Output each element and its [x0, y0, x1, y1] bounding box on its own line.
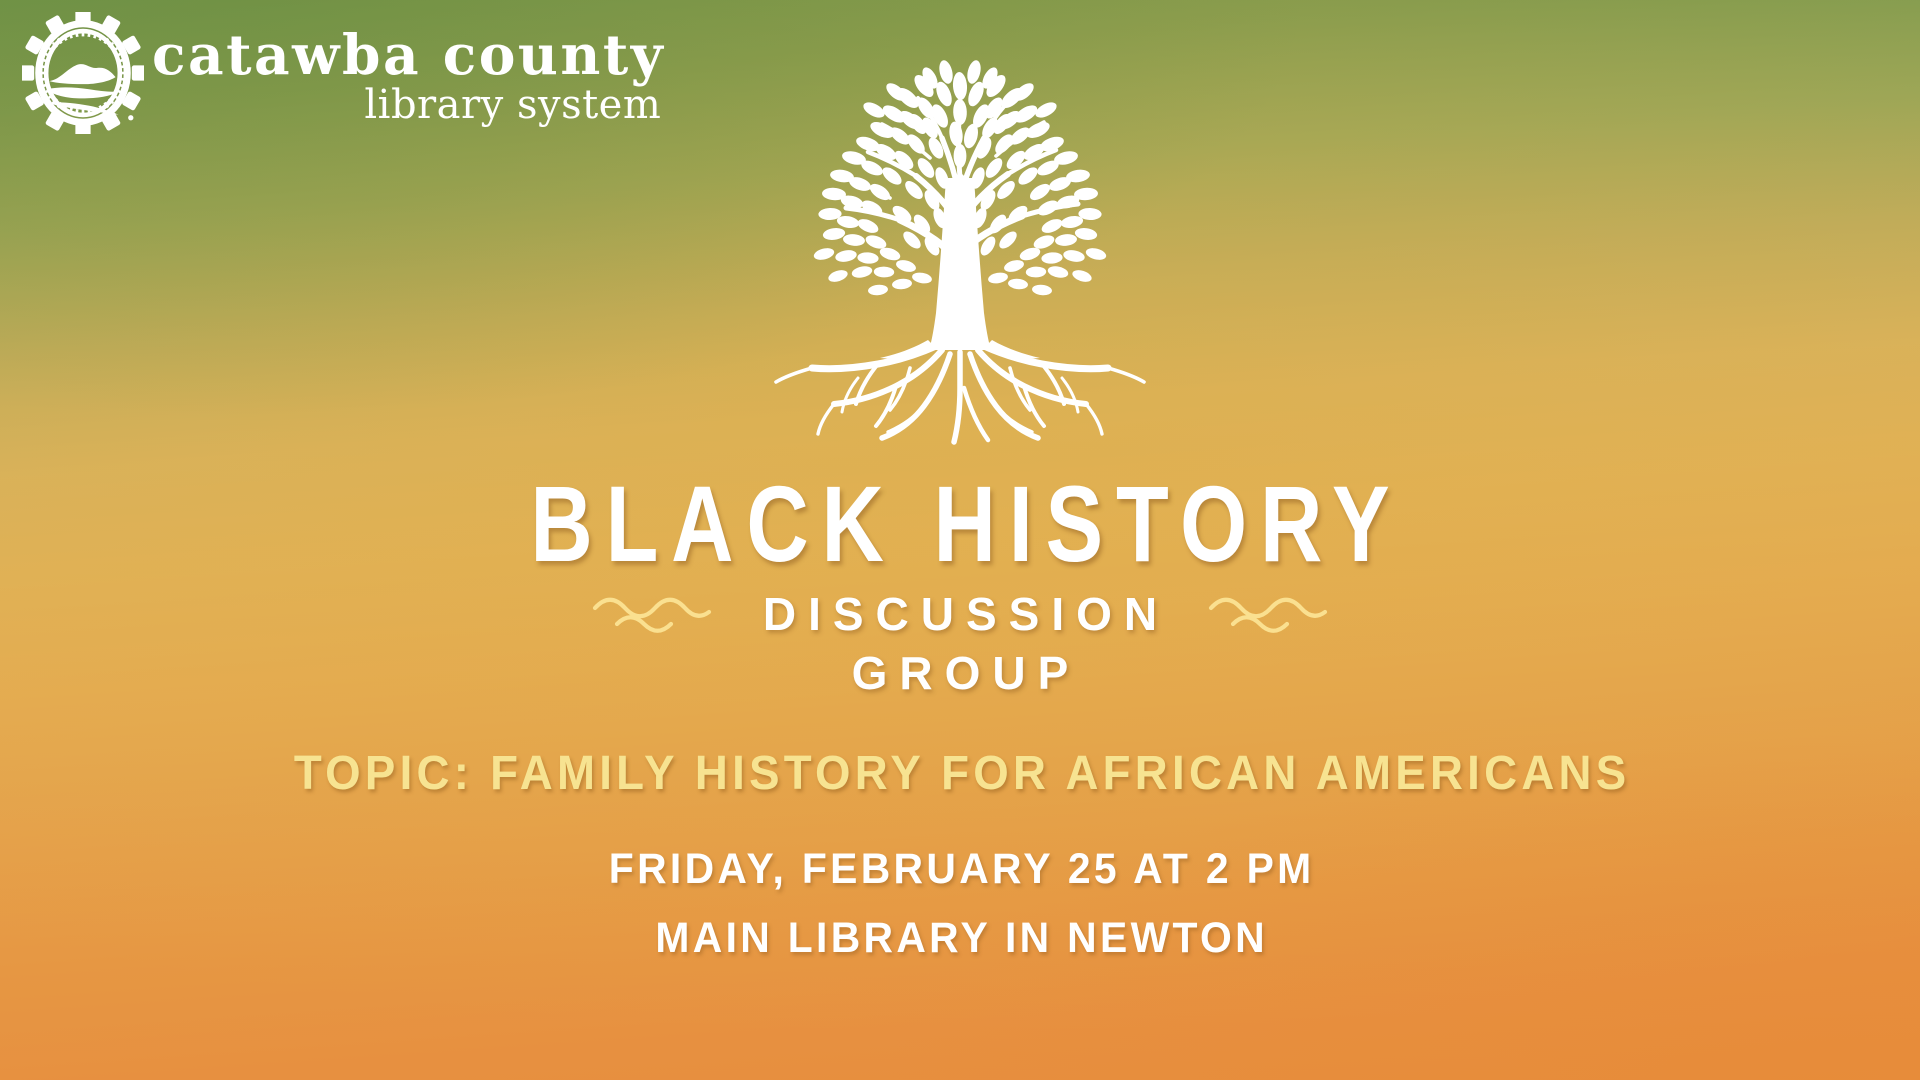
subtitle-discussion: DISCUSSION	[751, 590, 1169, 639]
subtitle-group: GROUP	[0, 649, 1920, 698]
catawba-county-gear-landscape-logo-icon	[22, 12, 144, 134]
event-flyer: catawba county library system	[0, 0, 1920, 1080]
wave-divider-icon	[1207, 591, 1329, 637]
wave-divider-icon	[591, 591, 713, 637]
event-location: MAIN LIBRARY IN NEWTON	[48, 917, 1872, 960]
event-topic: TOPIC: FAMILY HISTORY FOR AFRICAN AMERIC…	[48, 750, 1872, 798]
logo-line-catawba-county: catawba county	[152, 28, 665, 82]
logo-wordmark: catawba county library system	[152, 28, 665, 126]
event-datetime: FRIDAY, FEBRUARY 25 AT 2 PM	[48, 848, 1872, 891]
logo-line-library-system: library system	[364, 84, 661, 126]
library-logo: catawba county library system	[22, 12, 665, 134]
event-copy: BLACK HISTORY DISCUSSION GROUP TOPIC: FA…	[0, 470, 1920, 960]
tree-with-roots-icon	[750, 28, 1170, 458]
page-title: BLACK HISTORY	[192, 470, 1728, 578]
subhead-row: DISCUSSION	[0, 590, 1920, 639]
